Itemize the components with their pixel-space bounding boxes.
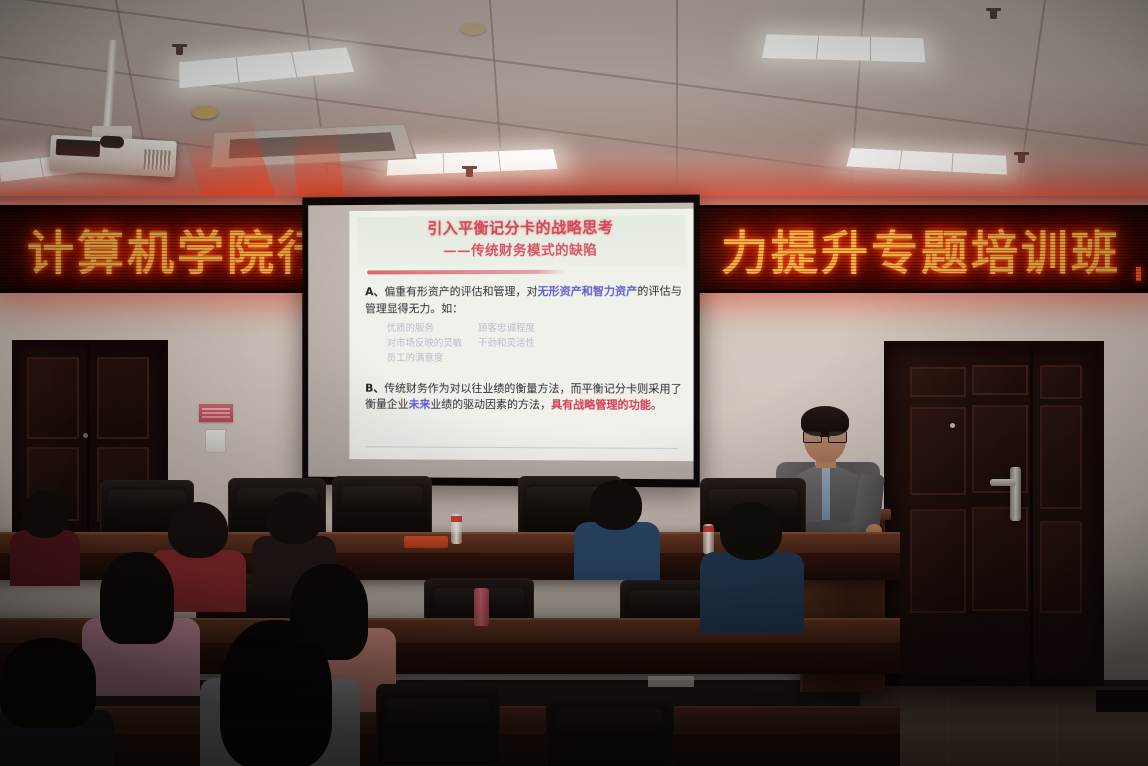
light-switch-plate[interactable] — [205, 429, 226, 453]
attendee-torso — [574, 522, 660, 580]
slide-sublist: 优质的服务顾客忠诚程度 对市场反映的灵敏干劲和灵活性 员工的满意度 — [387, 322, 684, 367]
attendee-hair — [0, 638, 96, 728]
sublist-item: 干劲和灵活性 — [478, 337, 570, 352]
sublist-row: 对市场反映的灵敏干劲和灵活性 — [387, 337, 684, 352]
sublist-row: 优质的服务顾客忠诚程度 — [387, 322, 684, 337]
sublist-row: 员工的满意度 — [387, 352, 684, 367]
paragraph-b-label: B、 — [365, 381, 384, 394]
presenter-glasses — [803, 431, 847, 441]
paragraph-b-highlight-future: 未来 — [409, 398, 431, 411]
paragraph-a-highlight: 无形资产和智力资产 — [538, 285, 638, 298]
attendee-hair — [220, 620, 332, 766]
smoke-detector — [460, 22, 486, 35]
attendee-hair — [100, 552, 174, 644]
slide-subtitle: ——传统财务模式的缺陷 — [357, 238, 685, 260]
projection-screen-surface: 引入平衡记分卡的战略思考 ——传统财务模式的缺陷 A、偏重有形资产的评估和管理，… — [308, 203, 693, 480]
attendee-back-left-dark — [10, 486, 80, 582]
door-peephole — [83, 433, 88, 438]
dark-wood-double-door[interactable] — [884, 341, 1104, 697]
floor-skirting — [1096, 690, 1148, 712]
slide-title-underline — [367, 270, 566, 275]
ceiling-light-panel — [762, 34, 925, 62]
orange-box-on-desk — [404, 536, 448, 548]
attendee-torso — [700, 552, 804, 634]
attendee-head — [266, 492, 322, 544]
ceiling-light-panel — [179, 47, 354, 88]
slide-title: 引入平衡记分卡的战略思考 — [357, 219, 685, 237]
chair[interactable] — [332, 476, 432, 536]
slide-paragraph-b: B、传统财务作为对以往业绩的衡量方法，而平衡记分卡则采用了衡量企业未来业绩的驱动… — [365, 380, 683, 414]
door-handle[interactable] — [1010, 467, 1021, 521]
presentation-slide: 引入平衡记分卡的战略思考 ——传统财务模式的缺陷 A、偏重有形资产的评估和管理，… — [349, 209, 693, 461]
attendee-head — [590, 480, 642, 530]
projector-mount-pole — [103, 40, 118, 136]
attendee-head — [720, 502, 782, 560]
water-bottle[interactable] — [451, 514, 462, 544]
paper-sheet — [648, 676, 694, 687]
slide-paragraph-a: A、偏重有形资产的评估和管理，对无形资产和智力资产的评估与管理显得无力。如： — [365, 283, 683, 317]
attendee-longhair-center — [200, 620, 360, 766]
chair[interactable] — [376, 684, 500, 766]
red-notice-sign — [199, 404, 233, 422]
sprinkler-head — [990, 8, 997, 19]
led-indicator-dot — [1136, 267, 1141, 281]
slide-footer-rule — [365, 446, 677, 449]
sublist-item: 顾客忠诚程度 — [478, 322, 570, 337]
slide-title-band: 引入平衡记分卡的战略思考 ——传统财务模式的缺陷 — [357, 215, 685, 267]
suspended-tile-ceiling — [0, 0, 1148, 212]
pink-thermos[interactable] — [474, 588, 489, 626]
paragraph-b-text-2: 业绩的驱动因素的方法， — [430, 398, 551, 411]
paragraph-a-label: A、 — [365, 285, 384, 298]
attendee-front-left-dark — [0, 638, 114, 766]
sublist-item: 优质的服务 — [387, 322, 478, 337]
attendee-blue-right-edge — [574, 478, 660, 574]
attendee-blue-shirt-front — [700, 500, 804, 630]
led-banner-text-right: 力提升专题培训班 — [721, 215, 1121, 284]
paragraph-b-text-3: 。 — [651, 399, 662, 412]
smoke-detector — [192, 106, 218, 119]
paragraph-a-text-1: 偏重有形资产的评估和管理，对 — [384, 285, 537, 298]
paragraph-b-highlight-strategy: 具有战略管理的功能 — [551, 398, 651, 411]
door-peephole — [950, 423, 955, 428]
audience-seating-area — [0, 470, 900, 766]
slide-body: A、偏重有形资产的评估和管理，对无形资产和智力资产的评估与管理显得无力。如： 优… — [365, 283, 683, 418]
chair[interactable] — [546, 696, 674, 766]
sprinkler-head — [176, 44, 183, 55]
lecture-hall-photo: 计算机学院行政 力提升专题培训班 引入平衡记分卡的战略思考 ——传统财务模式的缺… — [0, 0, 1148, 766]
sublist-item: 员工的满意度 — [387, 352, 478, 367]
sublist-item: 对市场反映的灵敏 — [387, 337, 478, 352]
projection-screen: 引入平衡记分卡的战略思考 ——传统财务模式的缺陷 A、偏重有形资产的评估和管理，… — [302, 195, 699, 488]
attendee-torso — [10, 530, 80, 586]
attendee-head — [22, 490, 68, 538]
